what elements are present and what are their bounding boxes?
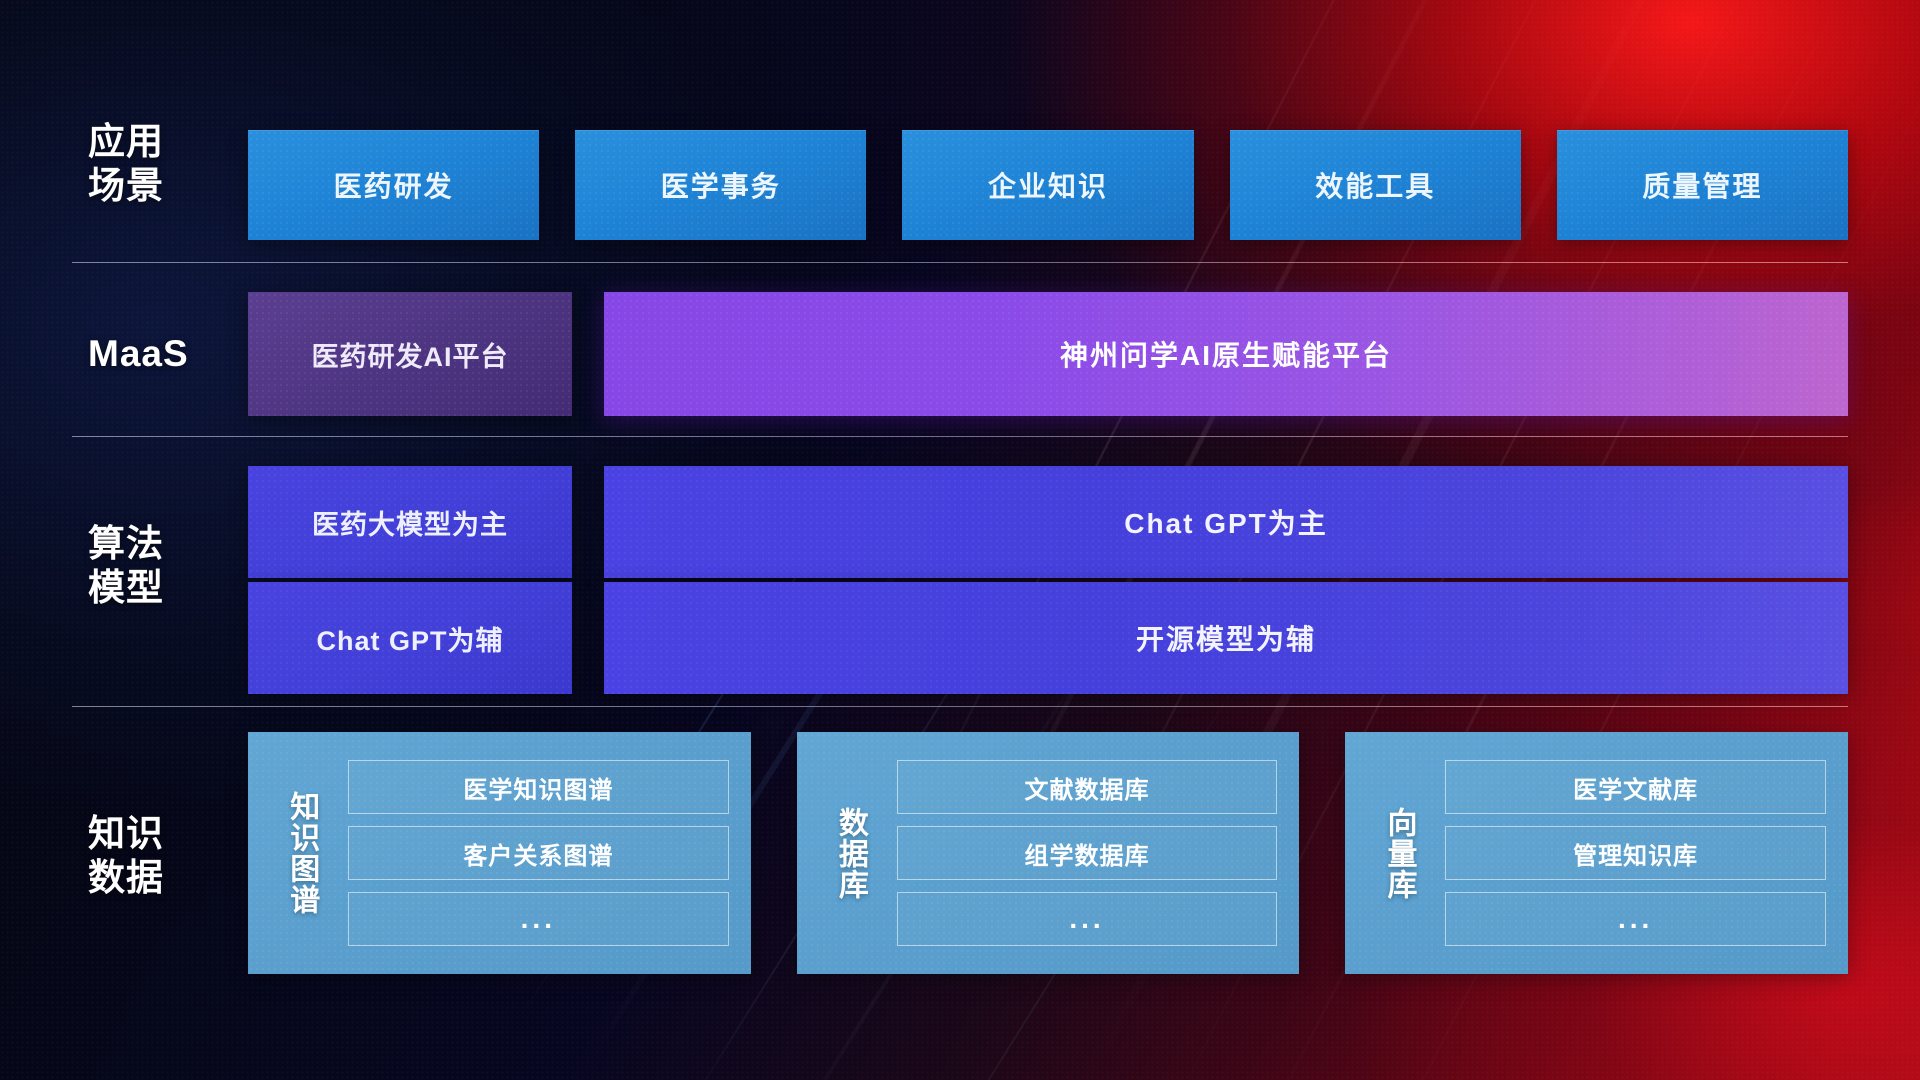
knowledge-item-label: ... <box>1069 903 1104 935</box>
app-card-drug-rnd[interactable]: 医药研发 <box>248 130 539 240</box>
algo-card-label: 医药大模型为主 <box>312 503 508 542</box>
knowledge-item-label: 管理知识库 <box>1573 836 1698 871</box>
knowledge-item-label: ... <box>521 903 556 935</box>
app-card-enterprise-knowledge[interactable]: 企业知识 <box>902 130 1193 240</box>
algo-card-pharma-large-model-primary[interactable]: 医药大模型为主 <box>248 466 572 578</box>
slide-canvas: 应用 场景 医药研发 医学事务 企业知识 效能工具 质量管理 MaaS 医药研发… <box>0 0 1920 1080</box>
divider-after-algorithms <box>72 706 1848 707</box>
knowledge-item-omics-database[interactable]: 组学数据库 <box>897 826 1278 880</box>
app-card-label: 医药研发 <box>334 165 454 205</box>
row-label-application-scenarios: 应用 场景 <box>88 120 238 207</box>
maas-card-drug-rnd-ai-platform[interactable]: 医药研发AI平台 <box>248 292 572 416</box>
app-card-medical-affairs[interactable]: 医学事务 <box>575 130 866 240</box>
maas-card-shenzhou-wenxue-platform[interactable]: 神州问学AI原生赋能平台 <box>604 292 1848 416</box>
knowledge-item-label: 客户关系图谱 <box>463 836 613 871</box>
knowledge-group-items: 医学知识图谱 客户关系图谱 ... <box>348 760 735 946</box>
algo-card-label: Chat GPT为主 <box>1124 502 1328 542</box>
knowledge-group-vector-store: 向量库 医学文献库 管理知识库 ... <box>1345 732 1848 974</box>
maas-card-label: 神州问学AI原生赋能平台 <box>1060 334 1392 374</box>
algorithm-models-row-secondary: Chat GPT为辅 开源模型为辅 <box>248 582 1848 694</box>
knowledge-item-more[interactable]: ... <box>1445 892 1826 946</box>
knowledge-item-label: 组学数据库 <box>1025 836 1150 871</box>
app-card-label: 医学事务 <box>661 165 781 205</box>
row-label-knowledge-data: 知识 数据 <box>88 812 238 899</box>
algo-card-chatgpt-secondary[interactable]: Chat GPT为辅 <box>248 582 572 694</box>
knowledge-group-database: 数据库 文献数据库 组学数据库 ... <box>797 732 1300 974</box>
row-label-algorithm-models: 算法 模型 <box>88 522 238 609</box>
knowledge-group-title: 数据库 <box>807 758 893 948</box>
app-card-quality-management[interactable]: 质量管理 <box>1557 130 1848 240</box>
knowledge-item-label: 医学文献库 <box>1573 770 1698 805</box>
knowledge-data-row: 知识图谱 医学知识图谱 客户关系图谱 ... 数据库 <box>248 732 1848 974</box>
knowledge-group-knowledge-graph: 知识图谱 医学知识图谱 客户关系图谱 ... <box>248 732 751 974</box>
knowledge-item-medical-knowledge-graph[interactable]: 医学知识图谱 <box>348 760 729 814</box>
application-scenarios-row: 医药研发 医学事务 企业知识 效能工具 质量管理 <box>248 130 1848 240</box>
knowledge-item-label: ... <box>1618 903 1653 935</box>
algo-card-label: 开源模型为辅 <box>1136 618 1316 658</box>
knowledge-group-title: 向量库 <box>1355 758 1441 948</box>
divider-after-applications <box>72 262 1848 263</box>
app-card-label: 质量管理 <box>1642 165 1762 205</box>
maas-card-label: 医药研发AI平台 <box>312 335 509 374</box>
knowledge-item-literature-database[interactable]: 文献数据库 <box>897 760 1278 814</box>
algo-card-chatgpt-primary[interactable]: Chat GPT为主 <box>604 466 1848 578</box>
app-card-label: 效能工具 <box>1315 165 1435 205</box>
knowledge-item-more[interactable]: ... <box>348 892 729 946</box>
knowledge-item-management-knowledge-store[interactable]: 管理知识库 <box>1445 826 1826 880</box>
knowledge-item-medical-literature-store[interactable]: 医学文献库 <box>1445 760 1826 814</box>
knowledge-group-items: 医学文献库 管理知识库 ... <box>1445 760 1832 946</box>
maas-row: 医药研发AI平台 神州问学AI原生赋能平台 <box>248 292 1848 416</box>
knowledge-item-customer-relation-graph[interactable]: 客户关系图谱 <box>348 826 729 880</box>
app-card-efficiency-tools[interactable]: 效能工具 <box>1230 130 1521 240</box>
knowledge-group-title: 知识图谱 <box>258 758 344 948</box>
app-card-label: 企业知识 <box>988 165 1108 205</box>
algorithm-models-row-primary: 医药大模型为主 Chat GPT为主 <box>248 466 1848 578</box>
row-label-maas: MaaS <box>88 332 238 376</box>
knowledge-item-label: 文献数据库 <box>1025 770 1150 805</box>
algo-card-label: Chat GPT为辅 <box>316 619 503 658</box>
divider-after-maas <box>72 436 1848 437</box>
knowledge-group-items: 文献数据库 组学数据库 ... <box>897 760 1284 946</box>
knowledge-item-label: 医学知识图谱 <box>463 770 613 805</box>
algo-card-opensource-model-secondary[interactable]: 开源模型为辅 <box>604 582 1848 694</box>
knowledge-item-more[interactable]: ... <box>897 892 1278 946</box>
architecture-diagram: 应用 场景 医药研发 医学事务 企业知识 效能工具 质量管理 MaaS 医药研发… <box>0 0 1920 1080</box>
